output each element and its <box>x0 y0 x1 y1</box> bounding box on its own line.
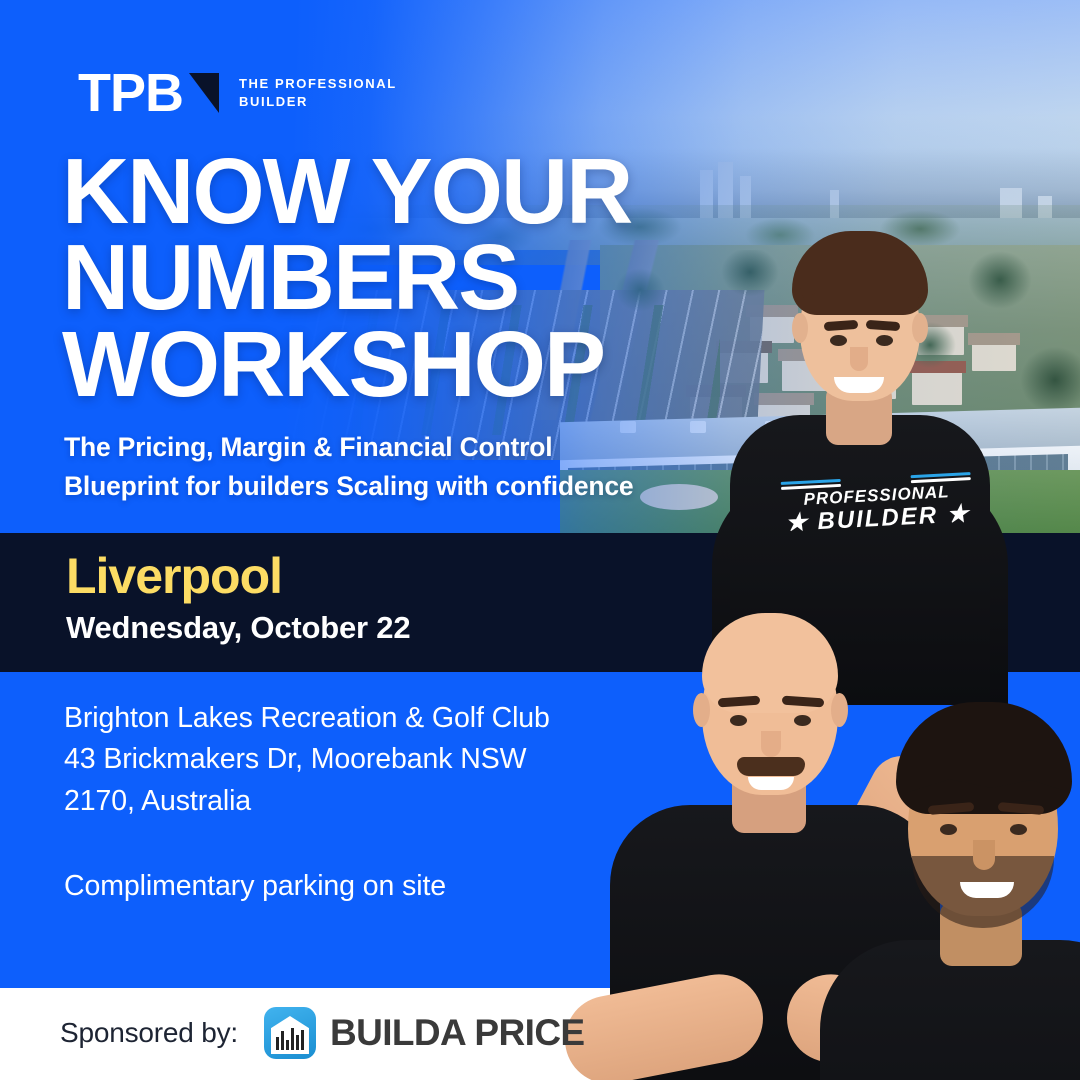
builda-price-house-chart-icon <box>264 1007 316 1059</box>
eye <box>830 335 847 346</box>
bar-chart-glyph <box>276 1026 304 1050</box>
mouth <box>960 882 1014 898</box>
headline-line-1: KNOW YOUR <box>62 148 762 234</box>
nose <box>761 731 781 757</box>
parking-note: Complimentary parking on site <box>64 872 446 901</box>
eye <box>1010 824 1027 835</box>
presenter-back-hair <box>792 231 928 315</box>
mouth <box>748 777 794 790</box>
presenters-photo-group: PROFESSIONAL ★ BUILDER ★ <box>540 225 1080 1080</box>
logo-tagline: THE PROFESSIONAL BUILDER <box>239 75 397 110</box>
tshirt-builder-text: BUILDER <box>817 502 939 535</box>
angled-corner-mark-icon <box>189 73 219 113</box>
tshirt-star-right: ★ <box>946 500 971 528</box>
tshirt-print: PROFESSIONAL ★ BUILDER ★ <box>781 472 974 536</box>
sponsor-logo[interactable]: BUILDA PRICE <box>264 1007 585 1059</box>
sponsor-name: BUILDA PRICE <box>330 1012 585 1054</box>
sponsor-label: Sponsored by: <box>60 1017 238 1049</box>
logo-tagline-line2: BUILDER <box>239 94 308 109</box>
logo-tagline-line1: THE PROFESSIONAL <box>239 76 397 91</box>
ear <box>912 313 928 343</box>
tpb-logo[interactable]: TPB THE PROFESSIONAL BUILDER <box>78 66 397 120</box>
eye <box>730 715 747 726</box>
sponsor-row: Sponsored by: BUILDA PRICE <box>60 1007 585 1059</box>
ear <box>792 313 808 343</box>
eye <box>794 715 811 726</box>
ear <box>693 693 710 727</box>
moustache <box>737 757 805 776</box>
nose <box>850 347 868 371</box>
event-date: Wednesday, October 22 <box>66 612 410 643</box>
logo-wordmark: TPB <box>78 66 183 120</box>
nose <box>973 840 995 870</box>
presenter-front <box>830 640 1080 1080</box>
tshirt-star-left: ★ <box>785 509 810 537</box>
eye <box>876 335 893 346</box>
event-city: Liverpool <box>66 551 282 601</box>
presenter-front-hair <box>896 702 1072 814</box>
eye <box>940 824 957 835</box>
event-poster: TPB THE PROFESSIONAL BUILDER KNOW YOUR N… <box>0 0 1080 1080</box>
